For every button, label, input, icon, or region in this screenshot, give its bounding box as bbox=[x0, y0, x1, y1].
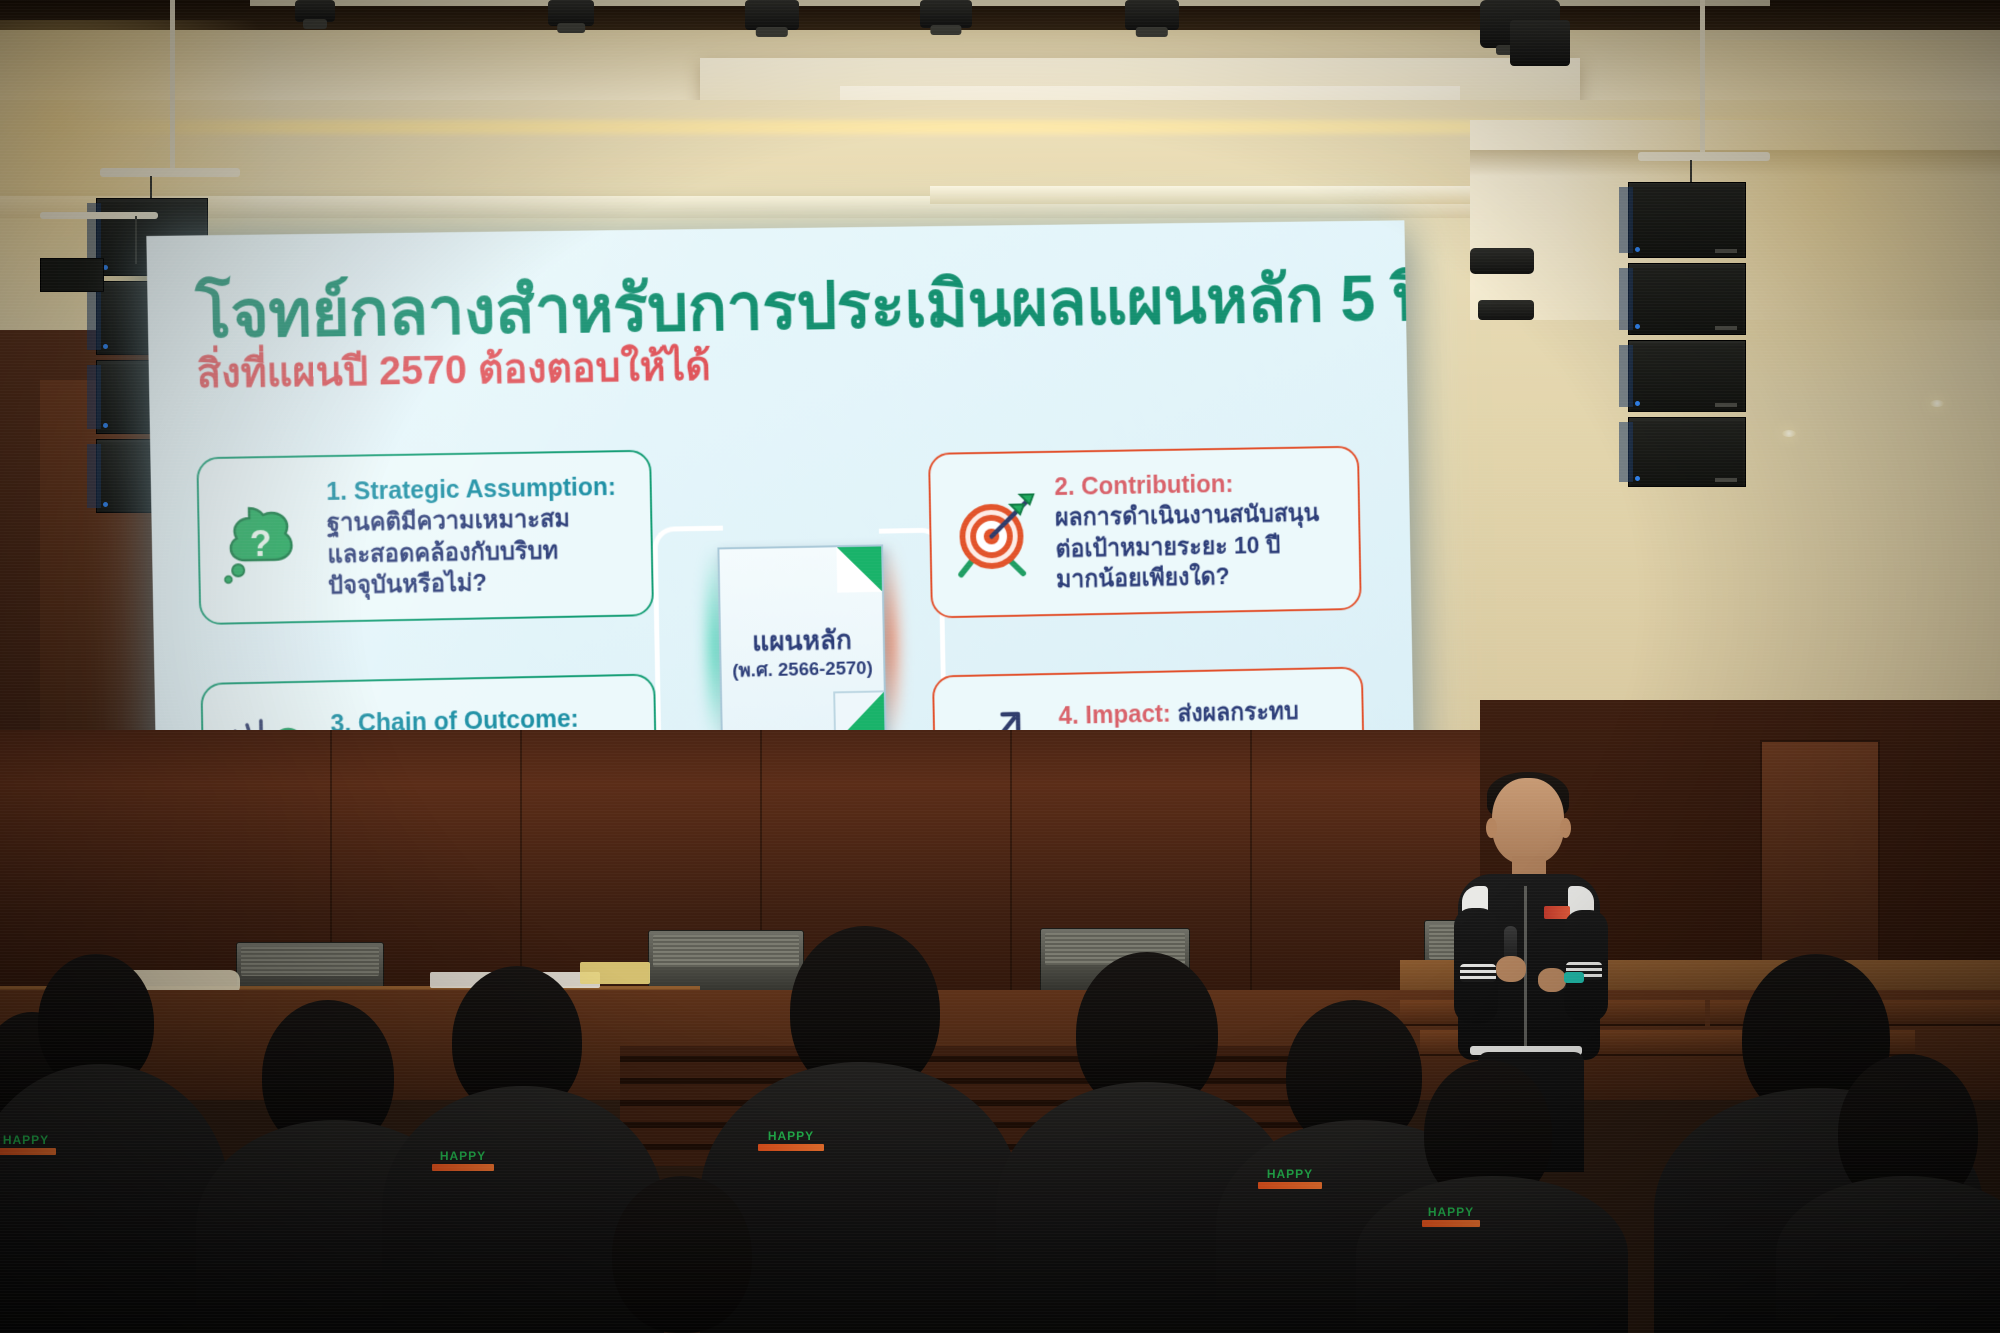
card1-heading: 1. Strategic Assumption: bbox=[326, 473, 616, 506]
shirt-badge-text: HAPPY bbox=[0, 1134, 56, 1146]
presenter-ear-left bbox=[1486, 818, 1497, 838]
card1-line2: และสอดคล้องกับบริบท bbox=[327, 537, 558, 568]
ceiling-spotlight-5 bbox=[1125, 0, 1179, 30]
shirt-badge-bar bbox=[1422, 1220, 1480, 1227]
card2-line3: มากน้อยเพียงใด? bbox=[1056, 563, 1230, 593]
shirt-badge-text: HAPPY bbox=[432, 1150, 494, 1162]
person4-shirt-badge: HAPPY bbox=[432, 1150, 494, 1171]
shirt-badge-bar bbox=[758, 1144, 824, 1151]
card2-text: 2. Contribution: ผลการดำเนินงานสนับสนุน … bbox=[1054, 467, 1320, 595]
ceiling-spotlight-1 bbox=[295, 0, 335, 22]
shirt-badge-text: HAPPY bbox=[1258, 1168, 1322, 1180]
document-fold-top-right bbox=[836, 546, 882, 592]
presenter-wristband bbox=[1564, 972, 1584, 983]
svg-text:?: ? bbox=[249, 523, 272, 564]
ceiling-spotlight-7 bbox=[1510, 20, 1570, 66]
right-speaker-array bbox=[1628, 182, 1746, 492]
folder-on-table bbox=[580, 962, 650, 984]
card2-heading: 2. Contribution: bbox=[1054, 470, 1233, 501]
presenter-hand-right bbox=[1538, 968, 1566, 992]
presenter-head bbox=[1492, 778, 1564, 864]
card4-heading: 4. Impact: bbox=[1058, 700, 1171, 730]
wood-plank-seam-4 bbox=[1010, 730, 1012, 1030]
person11-head bbox=[612, 1176, 752, 1333]
downlight-2 bbox=[1930, 400, 1944, 407]
right-speaker-box-3 bbox=[1628, 340, 1746, 412]
shirt-badge-bar bbox=[0, 1148, 56, 1155]
card4-line1: ส่งผลกระทบ bbox=[1177, 698, 1299, 727]
card1-line3: ปัจจุบันหรือไม่? bbox=[328, 570, 487, 600]
presenter-hand-left bbox=[1496, 956, 1526, 982]
target-dartboard-icon bbox=[948, 486, 1043, 582]
right-speaker-box-2 bbox=[1628, 263, 1746, 335]
card-strategic-assumption[interactable]: ? 1. Strategic Assumption: ฐานคติมีความเ… bbox=[196, 450, 654, 625]
ceiling-spotlight-4 bbox=[920, 0, 972, 28]
presenter-ear-right bbox=[1560, 818, 1571, 838]
left-rig-rod bbox=[170, 0, 175, 172]
person7-shirt-badge: HAPPY bbox=[1258, 1168, 1322, 1189]
right-speaker-box-4 bbox=[1628, 417, 1746, 487]
left-rig-wire-2 bbox=[135, 216, 137, 264]
card2-line2: ต่อเป้าหมายระยะ 10 ปี bbox=[1055, 532, 1280, 563]
right-rig-bar bbox=[1638, 152, 1770, 161]
person8-shirt-badge: HAPPY bbox=[1422, 1206, 1480, 1227]
person5-shoulders bbox=[700, 1062, 1020, 1333]
card2-line1: ผลการดำเนินงานสนับสนุน bbox=[1055, 501, 1320, 532]
ceiling-spotlight-2 bbox=[548, 0, 594, 26]
card-contribution[interactable]: 2. Contribution: ผลการดำเนินงานสนับสนุน … bbox=[928, 446, 1362, 619]
left-rig-bar bbox=[100, 168, 240, 177]
person5-shirt-badge: HAPPY bbox=[758, 1130, 824, 1151]
side-light-fixture-2 bbox=[1478, 300, 1534, 320]
right-rig-rod-upper bbox=[1700, 0, 1705, 60]
shirt-badge-text: HAPPY bbox=[1422, 1206, 1480, 1218]
slide-title: โจทย์กลางสำหรับการประเมินผลแผนหลัก 5 ปี bbox=[195, 266, 1357, 349]
right-speaker-box-1 bbox=[1628, 182, 1746, 258]
card1-line1: ฐานคติมีความเหมาะสม bbox=[327, 506, 571, 537]
wall-ledge-secondary bbox=[930, 186, 1530, 204]
shirt-badge-bar bbox=[1258, 1182, 1322, 1189]
center-document-icon: แผนหลัก (พ.ศ. 2566-2570) bbox=[717, 544, 886, 745]
wood-plank-seam-5 bbox=[1250, 730, 1252, 1030]
center-doc-sublabel: (พ.ศ. 2566-2570) bbox=[721, 653, 883, 686]
side-light-fixture bbox=[1470, 248, 1534, 274]
screenshot-root: โจทย์กลางสำหรับการประเมินผลแผนหลัก 5 ปี … bbox=[0, 0, 2000, 1333]
left-side-bar bbox=[40, 212, 158, 219]
thought-bubble-question-icon: ? bbox=[217, 491, 314, 589]
person2-shirt-badge: HAPPY bbox=[0, 1134, 56, 1155]
downlight-1 bbox=[1782, 430, 1796, 437]
person8-shoulders bbox=[1356, 1176, 1628, 1333]
stage-side-door bbox=[1760, 740, 1880, 990]
card1-text: 1. Strategic Assumption: ฐานคติมีความเหม… bbox=[326, 471, 618, 602]
shirt-badge-bar bbox=[432, 1164, 494, 1171]
shirt-badge-text: HAPPY bbox=[758, 1130, 824, 1142]
ceiling-spotlight-3 bbox=[745, 0, 799, 30]
stage-brick-6 bbox=[1595, 1030, 1745, 1056]
presenter-cuff-left bbox=[1460, 964, 1496, 982]
left-rig-amp bbox=[40, 258, 104, 292]
